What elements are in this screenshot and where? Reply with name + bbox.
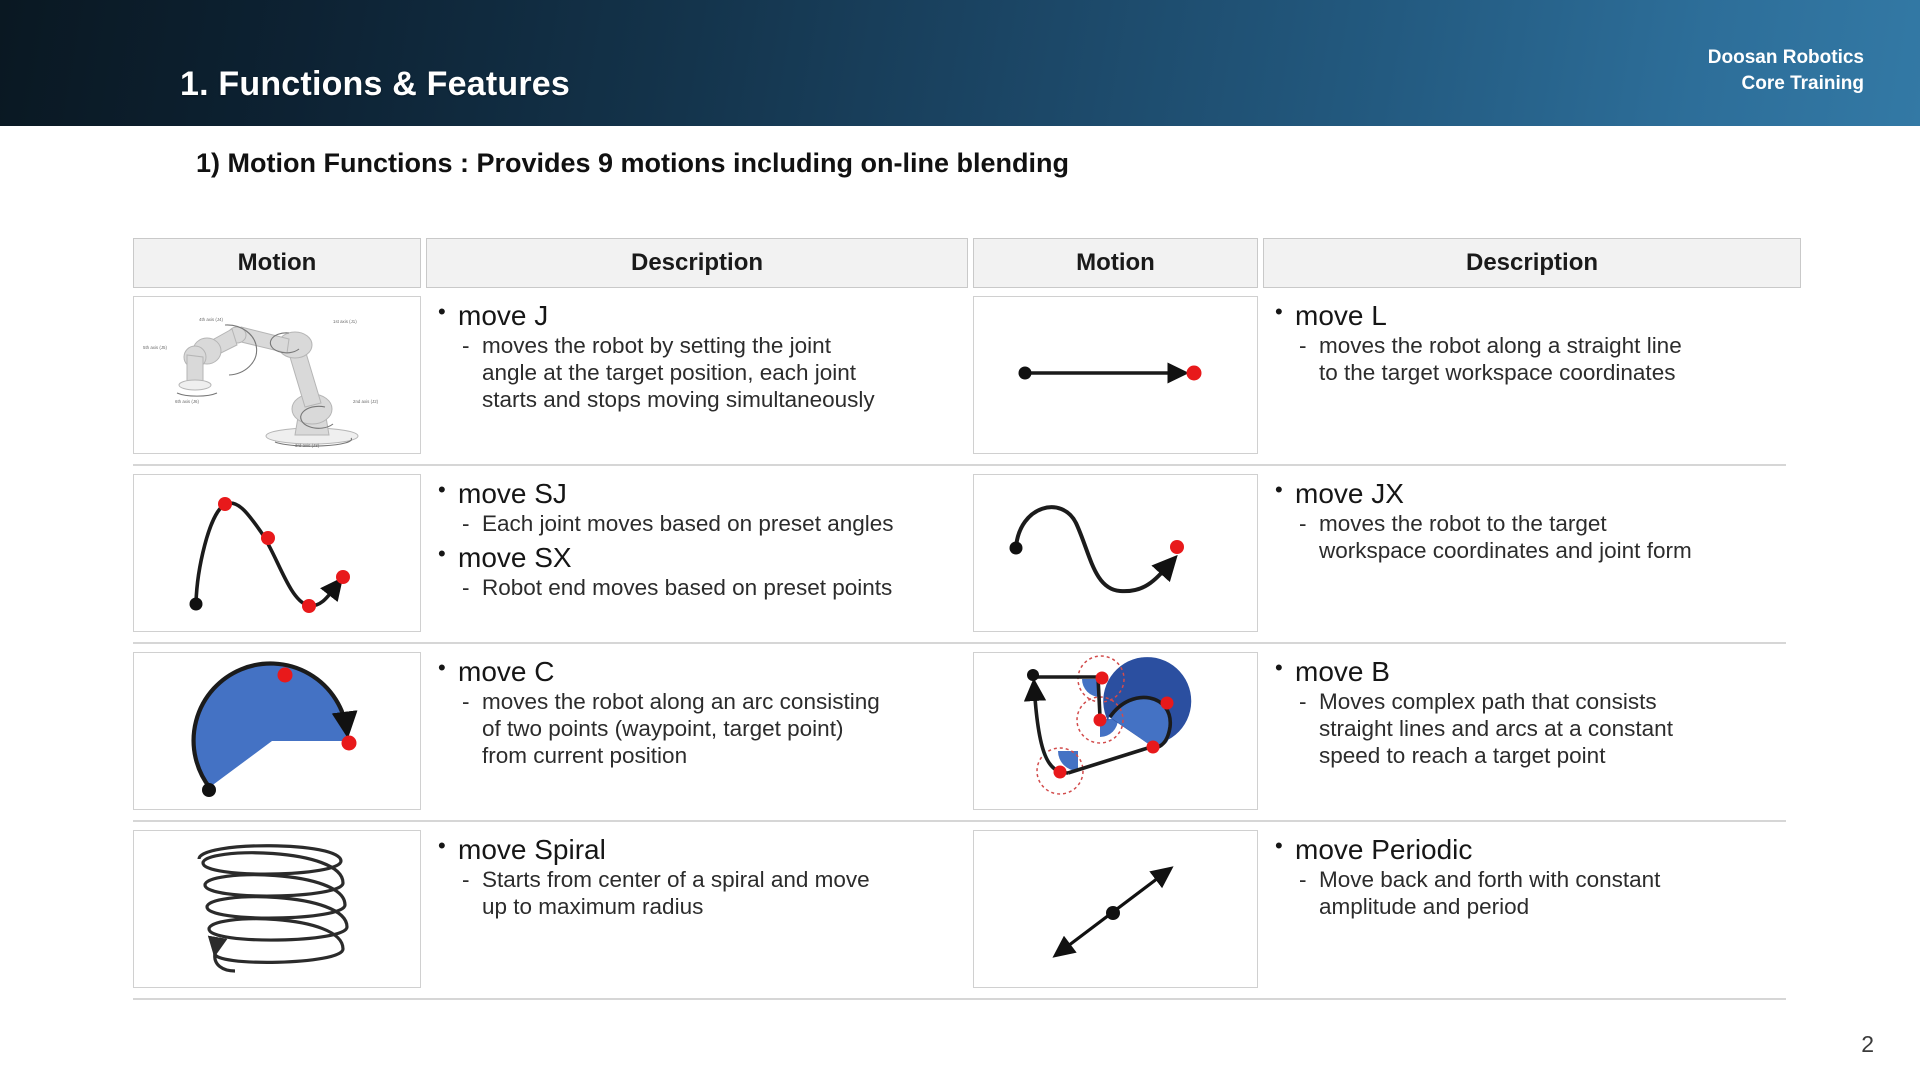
table-row: move Spiral Starts from center of a spir… [133, 822, 1786, 1000]
straight-arrow-icon [978, 299, 1253, 451]
blended-path-icon [978, 655, 1253, 807]
section-subtitle: 1) Motion Functions : Provides 9 motions… [196, 148, 1069, 179]
detail-line: moves the robot by setting the joint [482, 333, 962, 360]
description-move-c: move C moves the robot along an arc cons… [426, 652, 968, 810]
detail-line: moves the robot to the target [1319, 511, 1795, 538]
svg-text:6th axis (J6): 6th axis (J6) [175, 399, 199, 404]
page-title: 1. Functions & Features [0, 65, 570, 126]
motion-detail: moves the robot along a straight line to… [1273, 333, 1795, 386]
detail-line: moves the robot along a straight line [1319, 333, 1795, 360]
figure-straight-line-arrow-diagram [973, 296, 1258, 454]
motion-table: Motion Description Motion Description [133, 238, 1786, 1000]
column-header-motion-2: Motion [973, 238, 1258, 288]
figure-spiral-coil-diagram [133, 830, 421, 988]
detail-line: up to maximum radius [482, 894, 962, 921]
svg-text:2nd axis (J2): 2nd axis (J2) [353, 399, 379, 404]
figure-s-curve-arrow-diagram [973, 474, 1258, 632]
s-curve-icon [978, 477, 1253, 629]
motion-detail: Robot end moves based on preset points [436, 575, 962, 602]
figure-circular-arc-sector-diagram [133, 652, 421, 810]
motion-name: move Periodic [1273, 834, 1795, 866]
motion-name: move C [436, 656, 962, 688]
detail-line: moves the robot along an arc consisting [482, 689, 962, 716]
motion-detail: moves the robot to the target workspace … [1273, 511, 1795, 564]
detail-line: from current position [482, 743, 962, 770]
slide: 1. Functions & Features Doosan Robotics … [0, 0, 1920, 1080]
column-header-motion-1: Motion [133, 238, 421, 288]
column-header-description-2: Description [1263, 238, 1801, 288]
motion-detail: Move back and forth with constant amplit… [1273, 867, 1795, 920]
motion-name: move B [1273, 656, 1795, 688]
detail-line: Moves complex path that consists [1319, 689, 1795, 716]
figure-spline-waypoints-diagram [133, 474, 421, 632]
detail-line: Starts from center of a spiral and move [482, 867, 962, 894]
table-row: move SJ Each joint moves based on preset… [133, 466, 1786, 644]
motion-detail: Starts from center of a spiral and move … [436, 867, 962, 920]
description-move-periodic: move Periodic Move back and forth with c… [1263, 830, 1801, 988]
column-header-description-1: Description [426, 238, 968, 288]
motion-name: move J [436, 300, 962, 332]
motion-detail: moves the robot by setting the joint ang… [436, 333, 962, 413]
description-move-spiral: move Spiral Starts from center of a spir… [426, 830, 968, 988]
motion-detail: moves the robot along an arc consisting … [436, 689, 962, 769]
double-arrow-icon [978, 833, 1253, 985]
motion-name: move L [1273, 300, 1795, 332]
detail-line: to the target workspace coordinates [1319, 360, 1795, 387]
detail-line: speed to reach a target point [1319, 743, 1795, 770]
motion-name: move SJ [436, 478, 962, 510]
motion-name: move SX [436, 542, 962, 574]
arc-sector-icon [137, 655, 417, 807]
figure-double-arrow-periodic-diagram [973, 830, 1258, 988]
svg-text:1st axis (J1): 1st axis (J1) [333, 319, 357, 324]
detail-line: starts and stops moving simultaneously [482, 387, 962, 414]
brand-line-1: Doosan Robotics [1708, 45, 1864, 70]
description-move-l: move L moves the robot along a straight … [1263, 296, 1801, 454]
slide-header: 1. Functions & Features Doosan Robotics … [0, 0, 1920, 126]
spline-waypoints-icon [137, 477, 417, 629]
detail-line: Each joint moves based on preset angles [482, 511, 962, 538]
description-move-sj-sx: move SJ Each joint moves based on preset… [426, 474, 968, 632]
svg-text:3rd axis (J3): 3rd axis (J3) [295, 443, 320, 448]
figure-blended-path-diagram [973, 652, 1258, 810]
detail-line: straight lines and arcs at a constant [1319, 716, 1795, 743]
page-number: 2 [1861, 1031, 1874, 1058]
detail-line: Move back and forth with constant [1319, 867, 1795, 894]
table-row: 1st axis (J1) 2nd axis (J2) 3rd axis (J3… [133, 288, 1786, 466]
svg-text:4th axis (J4): 4th axis (J4) [199, 317, 223, 322]
description-move-b: move B Moves complex path that consists … [1263, 652, 1801, 810]
detail-line: amplitude and period [1319, 894, 1795, 921]
brand-line-2: Core Training [1708, 71, 1864, 96]
description-move-j: move J moves the robot by setting the jo… [426, 296, 968, 454]
robot-arm-icon: 1st axis (J1) 2nd axis (J2) 3rd axis (J3… [137, 299, 417, 451]
motion-detail: Each joint moves based on preset angles [436, 511, 962, 538]
table-row: move C moves the robot along an arc cons… [133, 644, 1786, 822]
detail-line: workspace coordinates and joint form [1319, 538, 1795, 565]
motion-detail: Moves complex path that consists straigh… [1273, 689, 1795, 769]
spiral-coil-icon [137, 833, 417, 985]
brand-block: Doosan Robotics Core Training [1708, 45, 1920, 126]
motion-name: move JX [1273, 478, 1795, 510]
detail-line: angle at the target position, each joint [482, 360, 962, 387]
svg-text:5th axis (J5): 5th axis (J5) [143, 345, 167, 350]
detail-line: of two points (waypoint, target point) [482, 716, 962, 743]
figure-robot-arm-axes-image: 1st axis (J1) 2nd axis (J2) 3rd axis (J3… [133, 296, 421, 454]
detail-line: Robot end moves based on preset points [482, 575, 962, 602]
description-move-jx: move JX moves the robot to the target wo… [1263, 474, 1801, 632]
motion-name: move Spiral [436, 834, 962, 866]
table-header-row: Motion Description Motion Description [133, 238, 1786, 288]
